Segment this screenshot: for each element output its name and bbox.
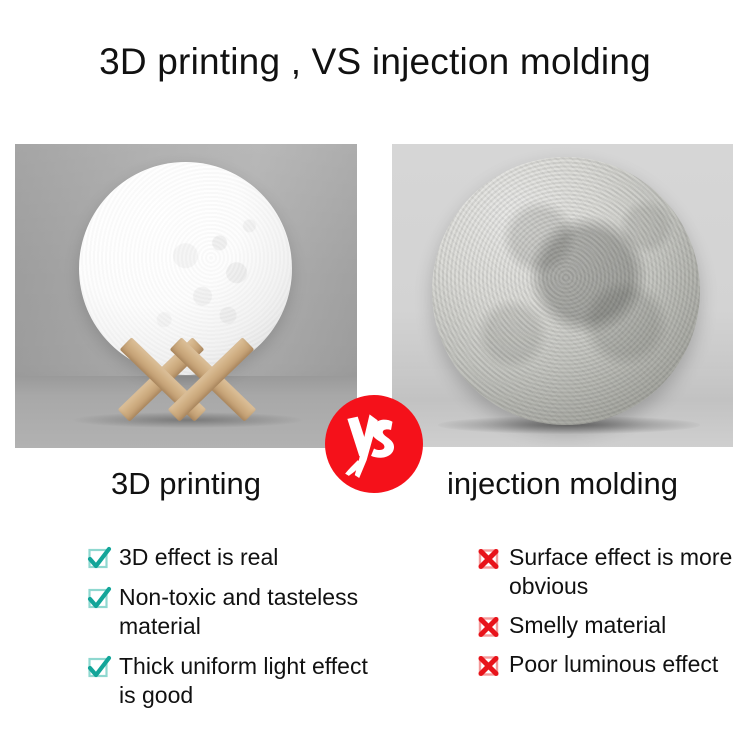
list-item: 3D effect is real xyxy=(86,543,386,572)
list-item-label: Surface effect is more obvious xyxy=(509,543,750,601)
product-image-injection-molding xyxy=(392,144,733,447)
vs-badge xyxy=(325,395,423,493)
wooden-stand xyxy=(107,349,267,421)
list-item: Smelly material xyxy=(476,611,750,640)
pros-list-3d-printing: 3D effect is real Non-toxic and tasteles… xyxy=(86,543,386,721)
list-item-label: 3D effect is real xyxy=(119,543,278,572)
product-image-3d-printing xyxy=(15,144,357,448)
vs-badge-icon xyxy=(337,407,411,481)
cons-list-injection-molding: Surface effect is more obvious Smelly ma… xyxy=(476,543,750,689)
caption-injection-molding: injection molding xyxy=(392,466,733,502)
list-item-label: Poor luminous effect xyxy=(509,650,718,679)
cross-icon xyxy=(476,546,502,572)
page-title: 3D printing , VS injection molding xyxy=(0,41,750,83)
moon-sphere-gray xyxy=(432,157,700,425)
check-icon xyxy=(86,546,112,572)
list-item: Poor luminous effect xyxy=(476,650,750,679)
cross-icon xyxy=(476,653,502,679)
caption-3d-printing: 3D printing xyxy=(15,466,357,502)
list-item-label: Thick uniform light effect is good xyxy=(119,652,369,710)
list-item-label: Smelly material xyxy=(509,611,666,640)
product-comparison-page: 3D printing , VS injection molding xyxy=(0,0,750,750)
comparison-images xyxy=(0,144,750,449)
feature-lists: 3D effect is real Non-toxic and tasteles… xyxy=(0,543,750,743)
check-icon xyxy=(86,655,112,681)
check-icon xyxy=(86,586,112,612)
list-item-label: Non-toxic and tasteless material xyxy=(119,583,369,641)
list-item: Surface effect is more obvious xyxy=(476,543,750,601)
list-item: Thick uniform light effect is good xyxy=(86,652,386,710)
cross-icon xyxy=(476,614,502,640)
list-item: Non-toxic and tasteless material xyxy=(86,583,386,641)
